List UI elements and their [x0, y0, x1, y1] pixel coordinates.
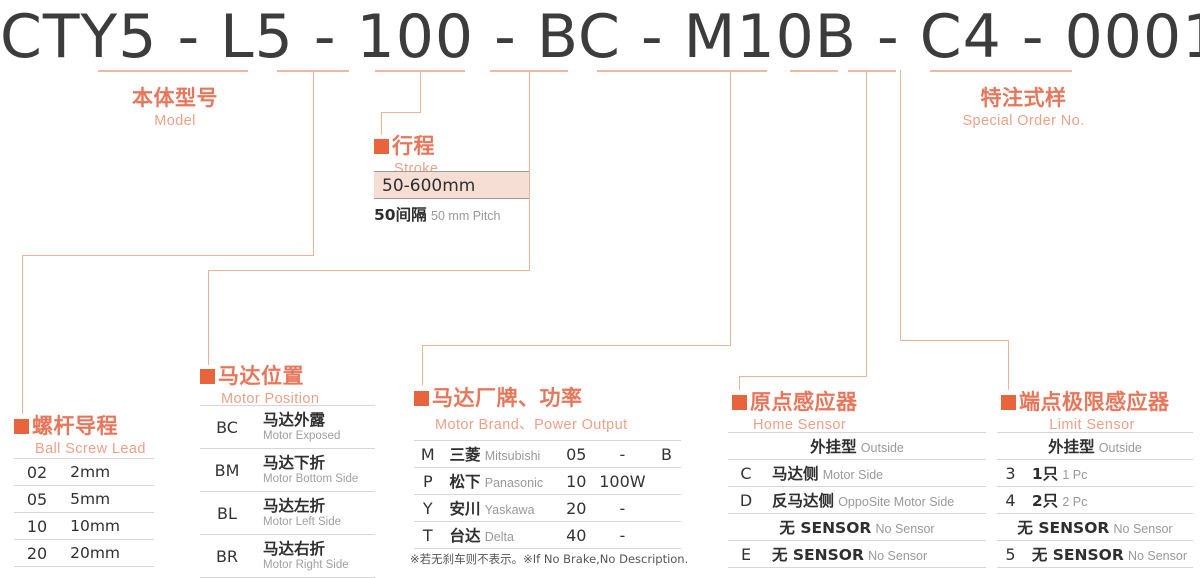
motor-power-value: 100W — [593, 468, 652, 495]
table-row: BC马达外露Motor Exposed — [200, 406, 375, 449]
table-header-row: 外挂型 Outside — [728, 433, 986, 460]
ball-screw-code: 20 — [14, 540, 60, 567]
home-sensor-desc: 无 SENSOR No Sensor — [764, 541, 986, 568]
code-underline-special — [930, 70, 1072, 72]
product-code: CTY5 - L5 - 100 - BC - M10B - C4 - 0001 — [0, 2, 1200, 72]
section-stroke: 行程 Stroke — [374, 130, 438, 177]
home-sensor-desc: 马达侧 Motor Side — [764, 460, 986, 487]
connector-ballscrew-v2 — [22, 255, 23, 414]
connector-motorbrand-v1 — [730, 70, 731, 345]
motor-brand-footnote: ※若无刹车则不表示。※If No Brake,No Description. — [410, 551, 688, 567]
table-row: 2020mm — [14, 540, 154, 567]
ball-screw-value: 2mm — [60, 459, 154, 486]
limit-sensor-code: 3 — [997, 460, 1024, 487]
ball-screw-value: 5mm — [60, 486, 154, 513]
home-sensor-code: D — [728, 487, 764, 514]
motor-brand-marker-icon — [414, 391, 429, 406]
table-row: 31只 1 Pc — [997, 460, 1193, 487]
section-model: 本体型号 Model — [110, 82, 240, 129]
stroke-marker-icon — [374, 139, 389, 154]
section-motorpos-title-cn: 马达位置 — [218, 364, 304, 388]
home-sensor-code: E — [728, 541, 764, 568]
motor-brake-code: B — [652, 441, 681, 468]
limit-sensor-table: 外挂型 Outside31只 1 Pc42只 2 Pc无 SENSOR No S… — [997, 432, 1193, 568]
motor-power-code: 05 — [560, 441, 593, 468]
section-homesensor-title-en: Home Sensor — [753, 417, 858, 433]
table-header-row: 无 SENSOR No Sensor — [997, 514, 1193, 541]
home-sensor-group-header: 无 SENSOR No Sensor — [728, 514, 986, 541]
motor-power-value: - — [593, 441, 652, 468]
motor-power-value: - — [593, 495, 652, 522]
connector-ballscrew-v1 — [313, 70, 314, 256]
limit-sensor-desc: 2只 2 Pc — [1024, 487, 1193, 514]
section-motorbrand-title-en: Motor Brand、Power Output — [435, 413, 628, 434]
motor-brand-code: P — [414, 468, 442, 495]
table-row: BR马达右折Motor Right Side — [200, 535, 375, 578]
section-ballscrew-title-en: Ball Screw Lead — [35, 441, 146, 457]
connector-limitsensor-h — [900, 340, 1009, 341]
table-row: P松下 Panasonic10100W — [414, 468, 681, 495]
motor-power-value: - — [593, 522, 652, 549]
code-underline-motorbrand — [597, 70, 767, 72]
limit-sensor-desc: 1只 1 Pc — [1024, 460, 1193, 487]
motor-brake-code — [652, 468, 681, 495]
section-model-title-cn: 本体型号 — [132, 86, 218, 110]
motor-position-table: BC马达外露Motor ExposedBM马达下折Motor Bottom Si… — [200, 405, 375, 578]
motor-brand-name: 台达 Delta — [442, 522, 560, 549]
table-row: BL马达左折Motor Left Side — [200, 492, 375, 535]
connector-ballscrew-h — [22, 255, 314, 256]
home-sensor-marker-icon — [732, 395, 747, 410]
limit-sensor-desc: 无 SENSOR No Sensor — [1024, 541, 1193, 568]
limit-sensor-code: 5 — [997, 541, 1024, 568]
motor-position-code: BL — [200, 492, 254, 535]
motor-brake-code — [652, 495, 681, 522]
section-ballscrew-title-cn: 螺杆导程 — [32, 414, 118, 438]
motor-position-code: BR — [200, 535, 254, 578]
motor-brand-code: T — [414, 522, 442, 549]
connector-limitsensor-v2 — [1008, 340, 1009, 390]
section-special-title-cn: 特注式样 — [981, 86, 1067, 110]
ball-screw-marker-icon — [14, 419, 29, 434]
ball-screw-code: 10 — [14, 513, 60, 540]
ball-screw-code: 02 — [14, 459, 60, 486]
motor-brand-name: 安川 Yaskawa — [442, 495, 560, 522]
code-underline-limitsensor — [848, 70, 896, 72]
home-sensor-desc: 反马达侧 OppoSite Motor Side — [764, 487, 986, 514]
connector-stroke-v1 — [420, 70, 421, 112]
section-limit-sensor: 端点极限感应器 Limit Sensor — [1001, 386, 1187, 433]
stroke-range-value: 50-600mm — [374, 171, 529, 199]
motor-position-desc: 马达左折Motor Left Side — [254, 492, 375, 535]
connector-motorpos-v1 — [529, 70, 530, 270]
motor-power-code: 20 — [560, 495, 593, 522]
table-row: D反马达侧 OppoSite Motor Side — [728, 487, 986, 514]
home-sensor-code: C — [728, 460, 764, 487]
code-underline-model — [98, 70, 248, 72]
section-home-sensor: 原点感应器 Home Sensor — [732, 386, 858, 433]
connector-motorpos-h — [208, 270, 530, 271]
section-homesensor-title-cn: 原点感应器 — [750, 390, 858, 414]
motor-position-desc: 马达右折Motor Right Side — [254, 535, 375, 578]
section-motor-position: 马达位置 Motor Position — [200, 360, 319, 407]
connector-homesensor-h — [739, 376, 867, 377]
table-row: C马达侧 Motor Side — [728, 460, 986, 487]
section-motor-brand: 马达厂牌、功率 Motor Brand、Power Output — [414, 382, 628, 434]
section-limitsensor-title-en: Limit Sensor — [997, 417, 1187, 433]
motor-brand-code: M — [414, 441, 442, 468]
ball-screw-code: 05 — [14, 486, 60, 513]
ball-screw-lead-table: 022mm055mm1010mm2020mm — [14, 458, 154, 567]
motor-position-marker-icon — [200, 369, 215, 384]
table-row: T台达 Delta40- — [414, 522, 681, 549]
section-limitsensor-title-cn: 端点极限感应器 — [1019, 390, 1170, 414]
table-row: 1010mm — [14, 513, 154, 540]
limit-sensor-code: 4 — [997, 487, 1024, 514]
stroke-pitch-en: 50 mm Pitch — [431, 209, 500, 223]
connector-motorpos-v2 — [208, 270, 209, 365]
ball-screw-value: 10mm — [60, 513, 154, 540]
section-motorbrand-title-cn: 马达厂牌、功率 — [432, 386, 583, 410]
connector-motorbrand-h — [422, 345, 731, 346]
section-special-order: 特注式样 Special Order No. — [936, 82, 1111, 129]
limit-sensor-group-header: 外挂型 Outside — [997, 433, 1193, 460]
section-special-title-en: Special Order No. — [936, 113, 1111, 129]
motor-brand-code: Y — [414, 495, 442, 522]
table-row: 5无 SENSOR No Sensor — [997, 541, 1193, 568]
connector-motorbrand-v2 — [422, 345, 423, 385]
motor-position-code: BM — [200, 449, 254, 492]
table-row: 42只 2 Pc — [997, 487, 1193, 514]
motor-position-desc: 马达外露Motor Exposed — [254, 406, 375, 449]
section-ball-screw-lead: 螺杆导程 Ball Screw Lead — [14, 410, 146, 457]
limit-sensor-marker-icon — [1001, 395, 1016, 410]
table-row: Y安川 Yaskawa20- — [414, 495, 681, 522]
table-row: M三菱 Mitsubishi05-B — [414, 441, 681, 468]
table-row: BM马达下折Motor Bottom Side — [200, 449, 375, 492]
table-row: 055mm — [14, 486, 154, 513]
section-stroke-title-cn: 行程 — [392, 134, 435, 158]
limit-sensor-group-header: 无 SENSOR No Sensor — [997, 514, 1193, 541]
connector-limitsensor-v1 — [900, 70, 901, 340]
stroke-pitch: 50间隔 50 mm Pitch — [374, 203, 501, 225]
motor-brand-name: 松下 Panasonic — [442, 468, 560, 495]
table-row: 022mm — [14, 459, 154, 486]
connector-homesensor-v1 — [866, 70, 867, 376]
stroke-pitch-cn: 50间隔 — [374, 206, 427, 224]
table-row: E无 SENSOR No Sensor — [728, 541, 986, 568]
motor-power-code: 10 — [560, 468, 593, 495]
motor-brand-name: 三菱 Mitsubishi — [442, 441, 560, 468]
ball-screw-value: 20mm — [60, 540, 154, 567]
motor-brand-table: M三菱 Mitsubishi05-BP松下 Panasonic10100WY安川… — [414, 440, 681, 549]
motor-brake-code — [652, 522, 681, 549]
code-underline-homesensor — [790, 70, 838, 72]
connector-stroke-h — [381, 112, 421, 113]
home-sensor-group-header: 外挂型 Outside — [728, 433, 986, 460]
motor-position-code: BC — [200, 406, 254, 449]
section-model-title-en: Model — [110, 113, 240, 129]
motor-power-code: 40 — [560, 522, 593, 549]
table-header-row: 无 SENSOR No Sensor — [728, 514, 986, 541]
motor-position-desc: 马达下折Motor Bottom Side — [254, 449, 375, 492]
home-sensor-table: 外挂型 OutsideC马达侧 Motor SideD反马达侧 OppoSite… — [728, 432, 986, 568]
table-header-row: 外挂型 Outside — [997, 433, 1193, 460]
